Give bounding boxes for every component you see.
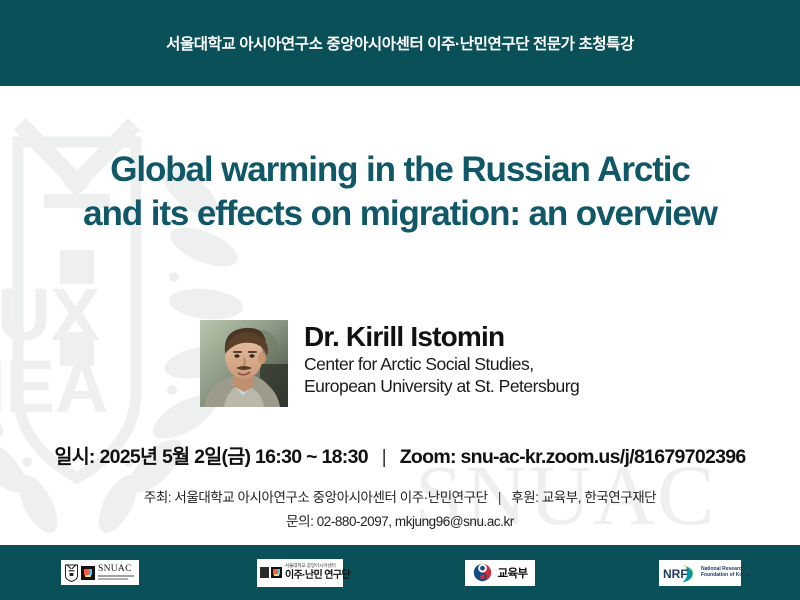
page-title: Global warming in the Russian Arctic and… — [0, 148, 800, 236]
logo-slot-moe: 교육부 — [400, 560, 600, 586]
nrf-logo: NRF National Research Foundation of Kore… — [659, 560, 741, 586]
speaker-photo — [200, 320, 288, 407]
migration-logo-text: 서울대학교 중앙아시아센터 이주·난민 연구단 — [285, 564, 350, 581]
nrf-line-2: Foundation of Korea — [701, 573, 750, 579]
migration-refugee-logo: 서울대학교 중앙아시아센터 이주·난민 연구단 — [257, 559, 343, 587]
title-line-2: and its effects on migration: an overvie… — [0, 192, 800, 236]
poster-body: Global warming in the Russian Arctic and… — [0, 86, 800, 545]
migration-main-line: 이주·난민 연구단 — [285, 571, 350, 581]
migration-top-line: 서울대학교 중앙아시아센터 — [285, 564, 350, 569]
speaker-affiliation-line-2: European University at St. Petersburg — [304, 375, 579, 397]
ministry-of-education-logo: 교육부 — [465, 560, 535, 586]
schedule-date: 일시: 2025년 5월 2일(금) 16:30 ~ 18:30 — [54, 446, 367, 468]
migration-logo-marks — [260, 567, 282, 578]
logo-slot-snuac: SNUAC — [0, 560, 200, 585]
snuac-wordmark-group: SNUAC — [98, 565, 134, 581]
logo-slot-migration: 서울대학교 중앙아시아센터 이주·난민 연구단 — [200, 559, 400, 587]
svg-text:NRF: NRF — [663, 567, 688, 581]
header-bar: 서울대학교 아시아연구소 중앙아시아센터 이주·난민연구단 전문가 초청특강 — [0, 0, 800, 86]
moe-label: 교육부 — [498, 565, 528, 581]
speaker-affiliation-line-1: Center for Arctic Social Studies, — [304, 353, 579, 375]
header-kicker-text: 서울대학교 아시아연구소 중앙아시아센터 이주·난민연구단 전문가 초청특강 — [166, 32, 634, 54]
footer-bar: SNUAC 서울대학교 중앙아시아센터 이주·난민 연구단 — [0, 545, 800, 600]
logo-slot-nrf: NRF National Research Foundation of Kore… — [600, 560, 800, 586]
organizer-separator: | — [491, 486, 508, 510]
speaker-block: Dr. Kirill Istomin Center for Arctic Soc… — [200, 320, 579, 407]
snu-crest-mini2-icon — [260, 567, 269, 578]
schedule-separator: | — [373, 446, 395, 469]
snuac-logo: SNUAC — [61, 560, 139, 585]
poster-canvas: 서울대학교 아시아연구소 중앙아시아센터 이주·난민연구단 전문가 초청특강 — [0, 0, 800, 600]
organizer-line: 주최: 서울대학교 아시아연구소 중앙아시아센터 이주·난민연구단 | 후원: … — [0, 486, 800, 510]
snuac-mark2-icon — [271, 567, 282, 578]
sponsor-label: 후원: 교육부, 한국연구재단 — [511, 490, 656, 505]
speaker-text: Dr. Kirill Istomin Center for Arctic Soc… — [304, 320, 579, 398]
title-line-1: Global warming in the Russian Arctic — [0, 148, 800, 192]
snuac-mark-icon — [81, 566, 95, 580]
snuac-subtitle-kr — [98, 578, 128, 580]
speaker-name: Dr. Kirill Istomin — [304, 322, 579, 353]
organizer-block: 주최: 서울대학교 아시아연구소 중앙아시아센터 이주·난민연구단 | 후원: … — [0, 486, 800, 533]
nrf-mark-icon: NRF — [663, 563, 697, 583]
korea-taegeuk-icon — [473, 563, 492, 582]
snuac-wordmark: SNUAC — [98, 565, 134, 575]
nrf-text-group: National Research Foundation of Korea — [701, 567, 750, 579]
snu-crest-mini-icon — [64, 563, 79, 582]
schedule-row: 일시: 2025년 5월 2일(금) 16:30 ~ 18:30 | Zoom:… — [0, 440, 800, 469]
zoom-link[interactable]: Zoom: snu-ac-kr.zoom.us/j/81679702396 — [400, 446, 746, 468]
host-label: 주최: 서울대학교 아시아연구소 중앙아시아센터 이주·난민연구단 — [144, 490, 488, 505]
contact-label: 문의: 02-880-2097, mkjung96@snu.ac.kr — [0, 510, 800, 534]
snuac-subtitle-en — [98, 575, 134, 577]
footer-logo-row: SNUAC 서울대학교 중앙아시아센터 이주·난민 연구단 — [0, 545, 800, 600]
